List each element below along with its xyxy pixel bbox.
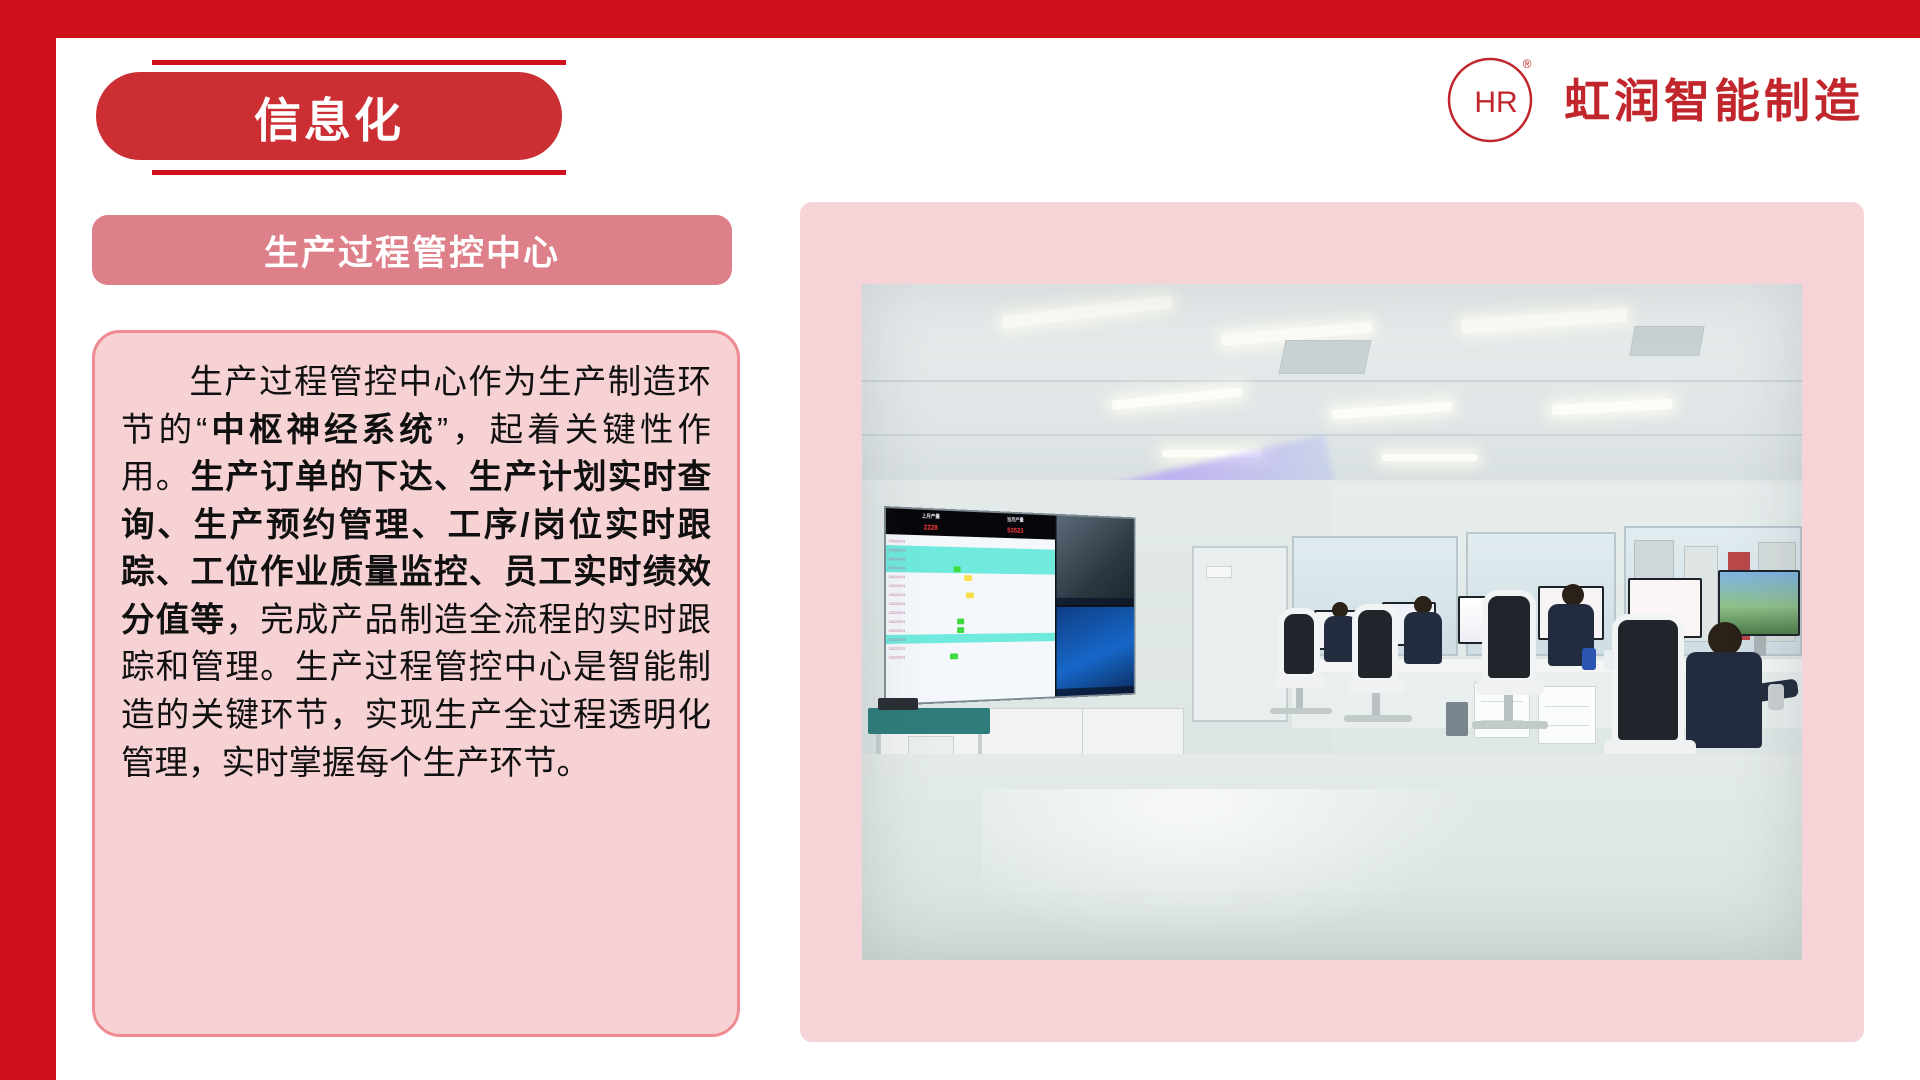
row-date: 2022/3/31 — [889, 646, 906, 651]
ceiling-tile — [1278, 340, 1371, 374]
row-bar — [957, 627, 964, 633]
ceiling-seam — [862, 434, 1802, 436]
description-card: 生产过程管控中心作为生产制造环节的“中枢神经系统”，起着关键性作用。生产订单的下… — [92, 330, 740, 1037]
control-room-photo: 上月产量 2228 当月产量 53523 2022/3/31 2022/3/31… — [862, 284, 1802, 960]
desc-quote-close: ” — [437, 412, 448, 449]
office-chair-post — [1504, 695, 1513, 723]
dashboard-row: 2022/3/31 — [886, 599, 1055, 608]
photo-panel: 上月产量 2228 当月产量 53523 2022/3/31 2022/3/31… — [800, 202, 1864, 1042]
video-wall-camera-feed — [1057, 607, 1134, 696]
drawer-line — [1481, 701, 1523, 702]
dashboard-header: 上月产量 2228 当月产量 53523 — [886, 508, 1055, 540]
drawer-line — [1545, 725, 1589, 726]
row-date: 2022/3/31 — [889, 655, 906, 660]
row-bar — [966, 592, 974, 598]
row-date: 2022/3/31 — [889, 556, 906, 561]
office-chair-base — [1472, 721, 1548, 729]
office-chair-post — [1296, 688, 1303, 710]
door-sign — [1206, 566, 1232, 578]
desk-item-bottle — [1604, 650, 1614, 670]
slide-root: 信息化 HR ® 虹润智能制造 生产过程管控中心 生产过程管控中心作为生产制造环… — [0, 0, 1920, 1080]
brand-lockup: HR ® 虹润智能制造 — [1446, 52, 1864, 144]
row-date: 2022/3/31 — [889, 601, 906, 606]
desc-quote-open: “ — [196, 412, 207, 449]
office-chair-back — [1278, 608, 1320, 680]
row-date: 2022/3/31 — [889, 574, 906, 579]
subtitle-label: 生产过程管控中心 — [264, 225, 560, 276]
description-text: 生产过程管控中心作为生产制造环节的“中枢神经系统”，起着关键性作用。生产订单的下… — [121, 359, 711, 787]
desk-equipment — [878, 698, 918, 710]
row-date: 2022/3/31 — [889, 637, 906, 642]
dashboard-rows: 2022/3/31 2022/3/31 2022/3/31 2022/3/31 … — [886, 536, 1055, 662]
office-chair-base — [1344, 715, 1412, 722]
row-bar — [957, 618, 964, 624]
desk-item-thermos — [1768, 684, 1784, 710]
row-bar — [955, 635, 1005, 641]
office-chair-back — [1482, 590, 1536, 684]
floor-reflection — [982, 789, 1502, 959]
office-chair-base — [1270, 708, 1332, 714]
row-bar — [965, 566, 1010, 572]
office-chair-back — [1612, 614, 1684, 746]
office-chair-seat — [1348, 680, 1406, 693]
section-title-label: 信息化 — [254, 82, 404, 151]
drawer-unit — [1538, 686, 1596, 744]
ceiling-light — [1382, 454, 1477, 461]
ceiling-tile — [1629, 326, 1704, 356]
row-bar — [950, 653, 958, 659]
dashboard-metric-left-value: 2228 — [924, 524, 938, 531]
side-table-top — [868, 708, 990, 734]
video-wall-dashboard: 上月产量 2228 当月产量 53523 2022/3/31 2022/3/31… — [886, 508, 1055, 704]
row-date: 2022/3/31 — [889, 610, 906, 615]
dashboard-metric-right: 当月产量 53523 — [974, 512, 1055, 540]
camera-feed-bar — [1057, 598, 1134, 605]
dashboard-metric-left-label: 上月产量 — [886, 510, 974, 524]
frame-top-bar — [0, 0, 1920, 38]
subtitle-bar: 生产过程管控中心 — [92, 215, 732, 285]
row-date: 2022/3/31 — [889, 592, 906, 597]
desc-bold-1: 中枢神经系统 — [207, 412, 437, 449]
row-date: 2022/3/31 — [889, 538, 906, 543]
brand-name: 虹润智能制造 — [1564, 65, 1864, 131]
video-wall: 上月产量 2228 当月产量 53523 2022/3/31 2022/3/31… — [884, 506, 1135, 706]
person-head — [1708, 622, 1742, 656]
section-title-group: 信息化 — [96, 72, 566, 160]
row-bar — [953, 566, 960, 572]
dashboard-metric-left: 上月产量 2228 — [886, 508, 974, 537]
title-rule-top — [152, 60, 566, 65]
row-bar — [964, 575, 972, 581]
hr-circle-logo-icon: HR ® — [1446, 52, 1538, 144]
section-title-badge: 信息化 — [96, 72, 562, 160]
office-chair-back — [1352, 604, 1398, 684]
row-date: 2022/3/31 — [889, 565, 906, 570]
row-date: 2022/3/31 — [889, 628, 906, 633]
dashboard-metric-right-label: 当月产量 — [974, 514, 1055, 528]
ceiling-seam — [862, 380, 1802, 382]
person-head — [1562, 584, 1584, 606]
office-chair-post — [1372, 693, 1380, 717]
camera-feed-bar — [1057, 686, 1134, 697]
drawer-line — [1545, 706, 1589, 707]
person-body — [1404, 612, 1442, 664]
desk-item-bottle — [1582, 648, 1596, 670]
row-date: 2022/3/31 — [889, 547, 906, 552]
dashboard-metric-right-value: 53523 — [1007, 528, 1023, 535]
office-chair-seat — [1274, 676, 1326, 688]
svg-text:®: ® — [1523, 57, 1532, 71]
row-bar — [955, 557, 1007, 564]
row-date: 2022/3/31 — [889, 583, 906, 588]
video-wall-camera-feed — [1057, 516, 1134, 605]
frame-left-bar — [0, 0, 56, 1080]
svg-text:HR: HR — [1474, 86, 1517, 119]
row-date: 2022/3/31 — [889, 619, 906, 624]
waste-bin — [1446, 702, 1468, 736]
office-chair-seat — [1476, 680, 1544, 695]
title-rule-bottom — [152, 170, 566, 175]
